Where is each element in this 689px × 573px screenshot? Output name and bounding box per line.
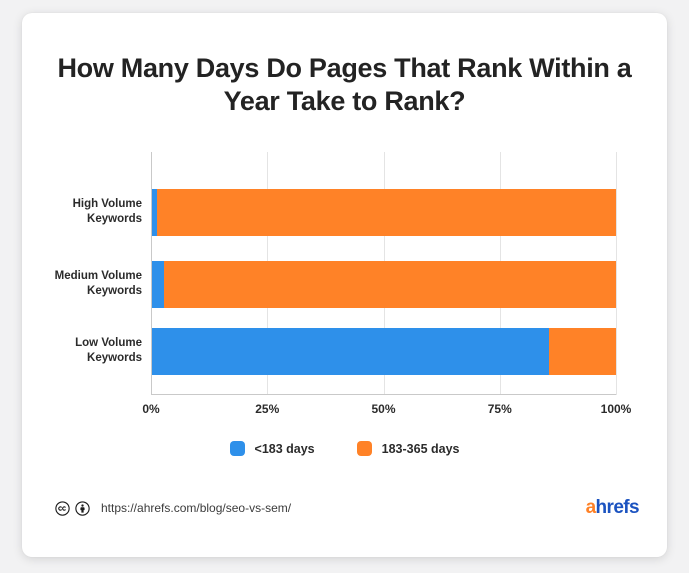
y-axis-labels: High Volume Keywords Medium Volume Keywo… [22,152,142,395]
page-title: How Many Days Do Pages That Rank Within … [52,52,637,118]
y-axis-label-medium-volume: Medium Volume Keywords [22,269,142,299]
ahrefs-logo-a: a [586,497,596,518]
legend-item[interactable]: <183 days [230,441,315,456]
x-axis-tick-label: 75% [488,402,512,416]
legend-swatch [357,441,372,456]
bar-row [152,328,616,375]
legend-label: 183-365 days [382,442,460,456]
legend: <183 days183-365 days [22,441,667,456]
y-axis-label-line: Keywords [22,284,142,299]
x-axis-labels: 0%25%50%75%100% [151,402,616,422]
bar-series-group [151,152,616,395]
bar-segment[interactable] [152,328,549,375]
creative-commons-by-icon [75,501,90,516]
bar-segment[interactable] [157,189,616,236]
ahrefs-logo-hrefs: hrefs [596,497,639,518]
y-axis-label-line: High Volume [22,197,142,212]
y-axis-label-low-volume: Low Volume Keywords [22,336,142,366]
ahrefs-logo: ahrefs [586,497,639,519]
x-axis-tick-label: 50% [371,402,395,416]
bar-row [152,189,616,236]
y-axis-label-line: Low Volume [22,336,142,351]
y-axis-label-high-volume: High Volume Keywords [22,197,142,227]
legend-label: <183 days [255,442,315,456]
footer: https://ahrefs.com/blog/seo-vs-sem/ ahre… [55,496,639,520]
license-icons [55,501,90,516]
y-axis-label-line: Keywords [22,351,142,366]
source-url[interactable]: https://ahrefs.com/blog/seo-vs-sem/ [101,501,291,515]
bar-segment[interactable] [549,328,616,375]
x-axis-tick-label: 0% [142,402,159,416]
bar-segment[interactable] [164,261,616,308]
gridline [616,152,617,395]
x-axis-tick-label: 25% [255,402,279,416]
y-axis-label-line: Keywords [22,212,142,227]
bar-segment[interactable] [152,261,164,308]
legend-swatch [230,441,245,456]
bar-row [152,261,616,308]
chart-card: How Many Days Do Pages That Rank Within … [22,13,667,557]
y-axis-label-line: Medium Volume [22,269,142,284]
plot-area [151,152,616,395]
creative-commons-icon [55,501,70,516]
x-axis-tick-label: 100% [601,402,632,416]
legend-item[interactable]: 183-365 days [357,441,460,456]
